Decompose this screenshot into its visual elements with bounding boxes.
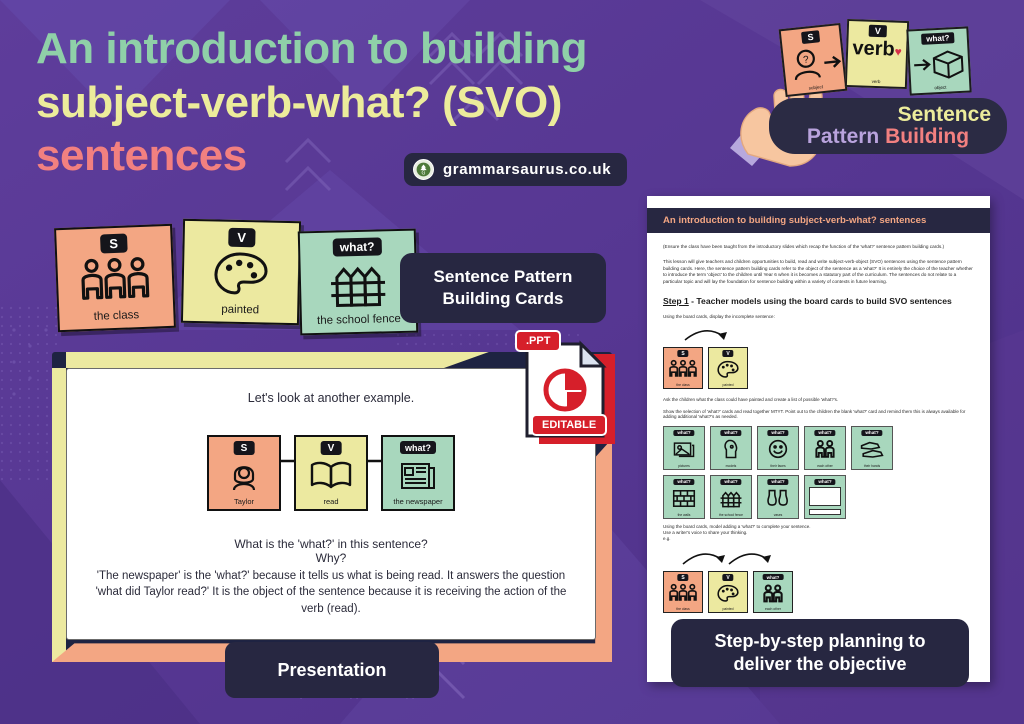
sentence-pattern-building-logo: S ? subject V verb♥ verb what? object Se… [724,20,1014,160]
card-label: Taylor [209,497,279,506]
card-label: the walls [664,513,704,517]
paint-palette-icon [183,249,298,299]
slide-intro-text: Let's look at another example. [89,391,573,405]
spb-logo-pattern-word: Pattern [807,125,885,148]
spb-logo-card-tag: S [801,30,820,44]
smiley-face-icon [758,438,798,460]
document-what-cards-row-2: what? the walls what? the school fence [663,475,974,519]
card-label: the class [664,383,702,387]
newspaper-icon [383,457,453,493]
document-note: Using the board cards, display the incom… [663,314,974,319]
card-label: vases [758,513,798,517]
cube-icon [909,44,973,85]
document-note: e.g. [663,536,974,541]
card-tag: what? [720,430,741,436]
spb-logo-building-word: Building [885,125,969,148]
spb-logo-card-tag: V [869,25,887,38]
blank-card-icon [809,487,841,506]
card-tag: S [677,574,688,581]
document-note: Using the board cards, model adding a 'w… [663,524,974,529]
document-final-card-verb[interactable]: V painted [708,571,748,613]
what-card-the-walls[interactable]: what? the walls [663,475,705,519]
document-pair-cards: S the class V [663,347,974,389]
spb-logo-card-label: verb [847,78,905,85]
paint-palette-icon [709,358,747,380]
hands-icon [852,438,892,460]
brand-pill[interactable]: G grammarsaurus.co.uk [404,153,627,186]
brick-wall-icon [664,487,704,509]
page-title: An introduction to building subject-verb… [36,22,736,183]
card-subject-the-class[interactable]: S the class [54,224,176,332]
card-label: painted [709,383,747,387]
what-card-their-faces[interactable]: what? their faces [757,426,799,470]
document-arrows-icon [677,548,827,566]
spb-logo-line-2: Pattern Building [769,125,1007,149]
ppt-editable-badge: EDITABLE [531,414,607,436]
card-tag: what? [720,479,741,485]
spb-logo-card-verb: V verb♥ verb [845,19,909,89]
card-label: models [711,464,751,468]
what-card-blank[interactable]: what? [804,475,846,519]
document-final-card-what[interactable]: what? each other [753,571,793,613]
grammarsaurus-logo-icon: G [413,159,434,180]
what-card-each-other[interactable]: what? each other [804,426,846,470]
card-tag: what? [763,574,784,580]
svg-text:?: ? [803,54,810,66]
document-note: Show the selection of 'what?' cards and … [663,409,974,419]
document-what-cards-row-1: what? pictures what? models wh [663,426,974,470]
card-label: the class [59,308,173,324]
card-tag: what? [767,430,788,436]
ppt-file-icon[interactable]: .PPT EDITABLE [519,336,615,448]
card-verb-painted[interactable]: V painted [181,219,301,325]
card-label: each other [754,607,792,611]
girl-face-icon [209,457,279,493]
blank-card-label-area [809,509,841,515]
card-tag: what? [767,479,788,485]
document-header-title: An introduction to building subject-verb… [647,208,990,233]
card-label: their hands [852,464,892,468]
what-card-school-fence[interactable]: what? the school fence [710,475,752,519]
verb-word-icon: verb♥ [848,37,907,62]
open-book-icon [296,457,366,493]
fence-icon [711,487,751,509]
card-tag: V [722,574,733,581]
document-card-verb[interactable]: V painted [708,347,748,389]
document-note: Use a writer's voice to share your think… [663,530,974,535]
card-label: each other [805,464,845,468]
two-people-icon [754,582,792,604]
slide-card-verb[interactable]: V read [294,435,368,511]
sentence-pattern-building-cards-badge: Sentence Pattern Building Cards [400,253,606,323]
document-final-card-subject[interactable]: S the class [663,571,703,613]
document-body: (Ensure the class have been taught from … [647,233,990,613]
document-step-rest: - Teacher models using the board cards t… [689,296,952,306]
card-label: the school fence [711,513,751,517]
card-tag: what? [673,430,694,436]
card-tag: what? [333,237,382,256]
brand-pill-label: grammarsaurus.co.uk [443,161,611,178]
spb-logo-line-1: Sentence [769,103,1007,127]
document-note: Ask the children what the class could ha… [663,397,974,402]
card-label: the class [664,607,702,611]
slide-card-subject[interactable]: S Taylor [207,435,281,511]
slide-card-what[interactable]: what? the newspaper [381,435,455,511]
title-line-1: An introduction to building [36,22,736,76]
spb-logo-card-object: what? object [906,26,971,95]
card-tag: what? [814,479,835,485]
document-paragraph: This lesson will give teachers and child… [663,259,974,286]
document-step-heading: Step 1 - Teacher models using the board … [663,296,974,306]
card-tag: V [321,441,342,455]
card-tag: what? [814,430,835,436]
slide-question-1: What is the 'what?' in this sentence? [89,537,573,551]
three-people-icon [664,358,702,380]
what-card-models[interactable]: what? models [710,426,752,470]
what-card-their-hands[interactable]: what? their hands [851,426,893,470]
card-label: read [296,497,366,506]
title-line-2: subject-verb-what? (SVO) [36,76,736,130]
card-label: the newspaper [383,497,453,506]
title-line-3: sentences [36,129,736,183]
document-paragraph: (Ensure the class have been taught from … [663,244,974,251]
two-people-icon [805,438,845,460]
pictures-icon [664,438,704,460]
three-people-icon [664,582,702,604]
card-tag: V [228,228,255,248]
card-label: painted [183,303,297,317]
svg-text:G: G [422,171,426,177]
document-final-cards: S the class V [663,571,974,613]
card-tag: what? [400,441,436,454]
paint-palette-icon [709,582,747,604]
card-label: the school fence [302,313,416,328]
ppt-extension-label: .PPT [515,330,561,352]
slide-question-2: Why? [89,551,573,565]
card-label: painted [709,607,747,611]
spb-logo-card-tag: what? [921,32,955,45]
step-badge-line-1: Step-by-step planning to [715,630,926,653]
card-tag: what? [861,430,882,436]
slide-answer-text: 'The newspaper' is the 'what?' because i… [89,568,573,617]
presentation-slide: Let's look at another example. S [66,368,596,640]
person-question-icon: ? [782,41,848,87]
model-icon [711,438,751,460]
vases-icon [758,487,798,509]
step-by-step-badge: Step-by-step planning to deliver the obj… [671,619,969,687]
card-tag: what? [673,479,694,485]
fence-icon [300,259,415,310]
what-card-vases[interactable]: what? vases [757,475,799,519]
card-label: their faces [758,464,798,468]
step-badge-line-2: deliver the objective [715,653,926,676]
lesson-plan-document[interactable]: An introduction to building subject-verb… [647,196,990,682]
spb-logo-pill: Sentence Pattern Building [769,98,1007,154]
cards-badge-line-1: Sentence Pattern [410,266,596,288]
document-arrow-icon [677,326,787,342]
spb-logo-card-subject: S ? subject [779,23,848,97]
presentation-badge: Presentation [225,642,439,698]
cards-badge-line-2: Building Cards [410,288,596,310]
card-tag: S [100,234,127,254]
what-card-pictures[interactable]: what? pictures [663,426,705,470]
document-step-number: Step 1 [663,296,689,306]
three-people-icon [57,254,173,306]
card-tag: V [722,350,733,357]
document-card-subject[interactable]: S the class [663,347,703,389]
card-tag: S [234,441,255,455]
card-label: pictures [664,464,704,468]
card-tag: S [677,350,688,357]
